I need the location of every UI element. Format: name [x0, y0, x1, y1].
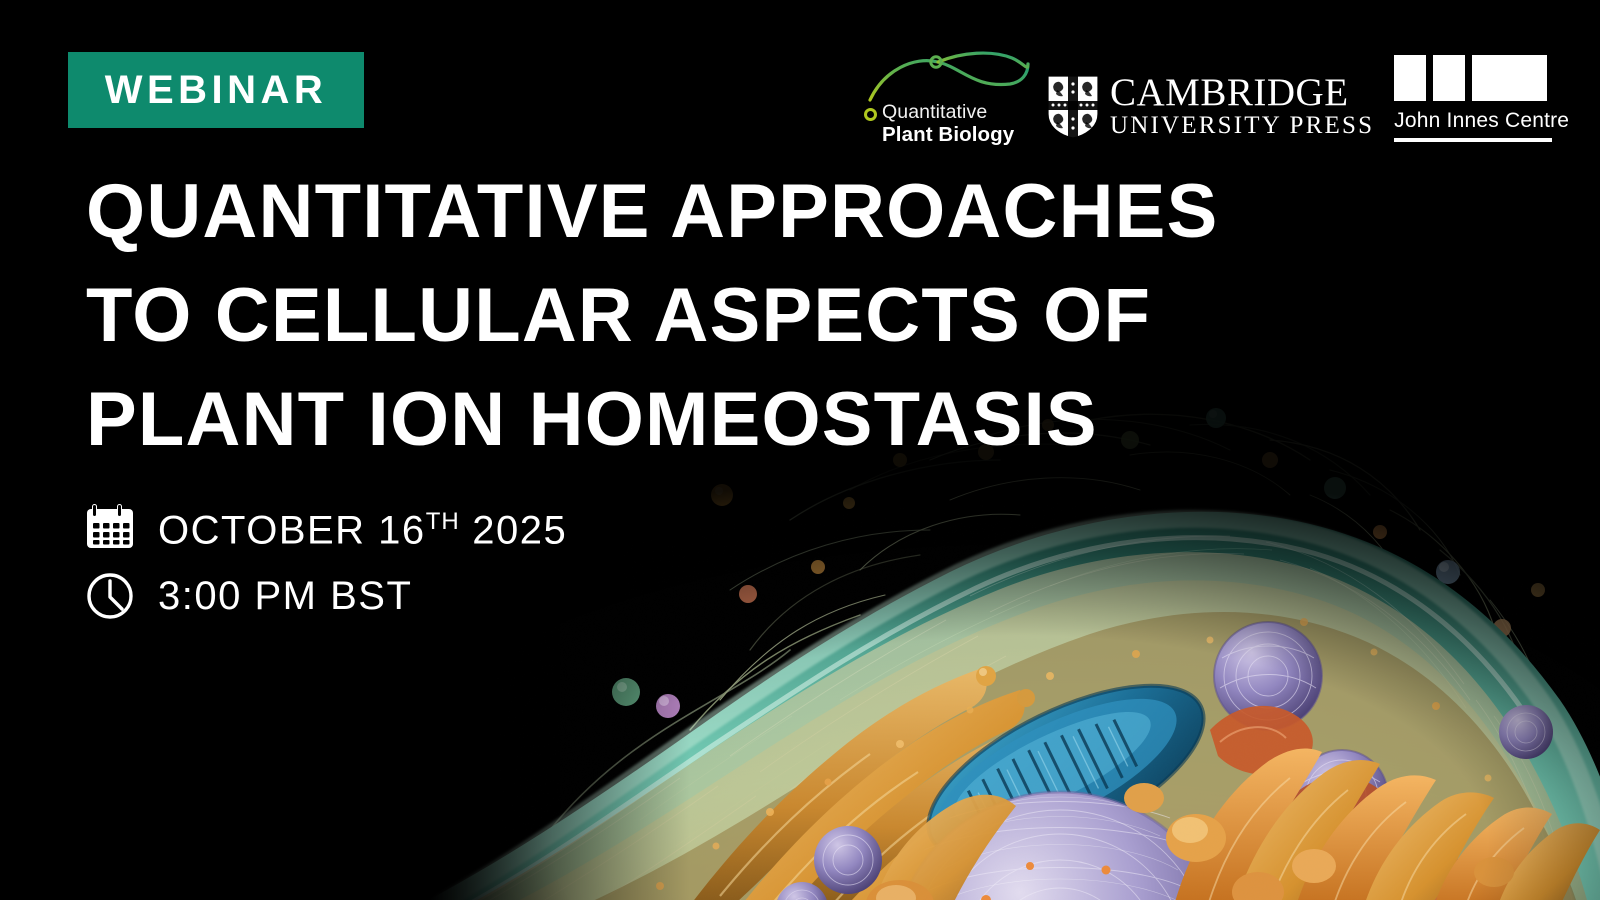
cambridge-logo-line2: UNIVERSITY PRESS	[1110, 112, 1374, 140]
jic-logo-label: John Innes Centre	[1394, 108, 1554, 133]
event-date-year: 2025	[460, 508, 568, 552]
clock-icon	[84, 570, 136, 622]
webinar-badge: WEBINAR	[68, 52, 364, 128]
qpb-logo-line2: Plant Biology	[882, 123, 1014, 146]
headline-line-2: TO CELLULAR ASPECTS OF	[86, 264, 1426, 368]
webinar-badge-label: WEBINAR	[105, 70, 328, 110]
headline-line-3: PLANT ION HOMEOSTASIS	[86, 368, 1426, 472]
event-time-row: 3:00 PM BST	[84, 570, 567, 622]
qpb-logo-line1: Quantitative	[882, 102, 987, 123]
cambridge-university-press-logo: CAMBRIDGE UNIVERSITY PRESS	[1046, 73, 1374, 146]
quantitative-plant-biology-logo: Quantitative Plant Biology	[862, 48, 1030, 146]
event-date-text: OCTOBER 16TH 2025	[158, 500, 567, 552]
cambridge-shield-icon	[1046, 74, 1100, 140]
jic-underline	[1394, 138, 1552, 142]
john-innes-centre-logo: John Innes Centre	[1394, 55, 1554, 146]
cambridge-logo-line1: CAMBRIDGE	[1110, 73, 1374, 112]
cell-artwork-image	[430, 400, 1600, 900]
page-title: QUANTITATIVE APPROACHES TO CELLULAR ASPE…	[86, 160, 1426, 472]
qpb-leaf-icon	[862, 48, 1030, 106]
jic-bars-icon	[1394, 55, 1554, 101]
webinar-poster: WEBINAR Quantitative Plant Biology	[0, 0, 1600, 900]
event-date-row: OCTOBER 16TH 2025	[84, 500, 567, 552]
event-date-ordinal: TH	[426, 508, 460, 535]
event-date-main: OCTOBER 16	[158, 508, 426, 552]
qpb-seed-icon	[864, 108, 877, 121]
logo-strip: Quantitative Plant Biology	[862, 46, 1554, 146]
headline-line-1: QUANTITATIVE APPROACHES	[86, 160, 1426, 264]
event-time-text: 3:00 PM BST	[158, 574, 412, 618]
calendar-icon	[84, 500, 136, 552]
event-details: OCTOBER 16TH 2025 3:00 PM BST	[84, 500, 567, 622]
